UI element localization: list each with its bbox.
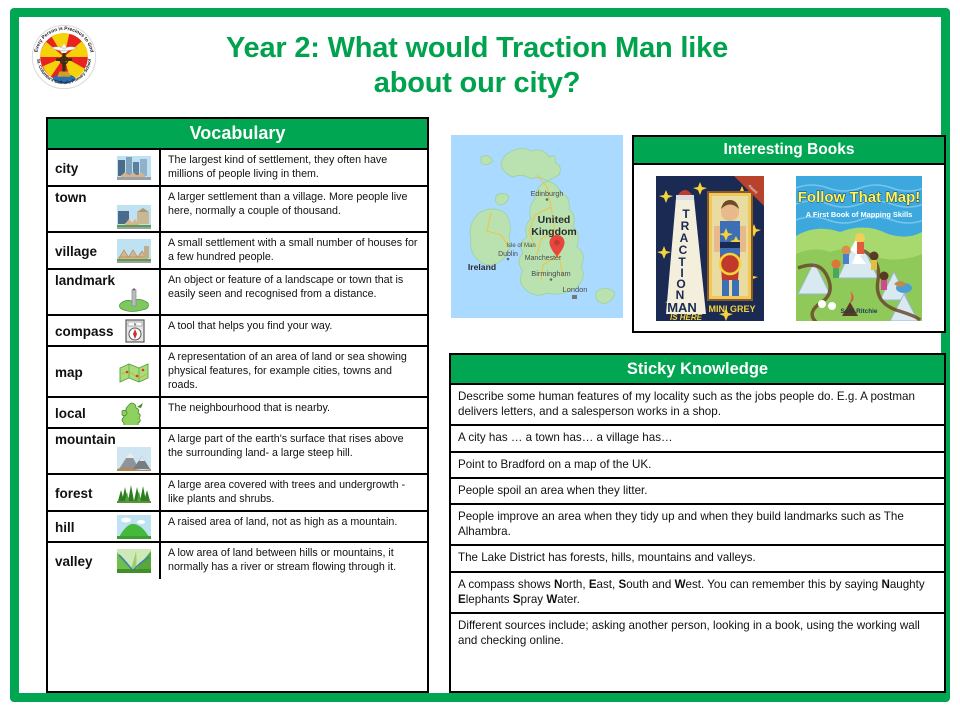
town-buildings-icon [117, 205, 151, 229]
svg-text:London: London [563, 285, 588, 294]
uk-map-image: Edinburgh United Kingdom Isle of Man Dub… [451, 135, 623, 318]
interesting-books-heading: Interesting Books [634, 137, 944, 165]
sticky-knowledge-item: A compass shows North, East, South and W… [451, 571, 944, 612]
svg-text:A First Book of Mapping Skills: A First Book of Mapping Skills [806, 210, 913, 219]
vocabulary-definition: A low area of land between hills or moun… [161, 543, 427, 578]
vocabulary-term-label: village [55, 244, 97, 259]
sticky-knowledge-heading: Sticky Knowledge [451, 355, 944, 385]
vocabulary-definition: A larger settlement than a village. More… [161, 187, 427, 231]
vocabulary-term-label: city [55, 161, 78, 176]
village-houses-icon [117, 239, 151, 263]
sticky-knowledge-rows: Describe some human features of my local… [451, 385, 944, 653]
vocabulary-row: forestA large area covered with trees an… [48, 473, 427, 510]
svg-text:Manchester: Manchester [525, 255, 562, 262]
vocabulary-row: mapA representation of an area of land o… [48, 345, 427, 396]
sticky-knowledge-item: Describe some human features of my local… [451, 385, 944, 424]
sticky-knowledge-item: People spoil an area when they litter. [451, 477, 944, 503]
vocabulary-term-cell: hill [48, 512, 161, 541]
hill-icon [117, 515, 151, 539]
vocabulary-row: hillA raised area of land, not as high a… [48, 510, 427, 541]
vocabulary-definition: A representation of an area of land or s… [161, 347, 427, 396]
vocabulary-definition: A raised area of land, not as high as a … [161, 512, 427, 541]
svg-text:MINI GREY: MINI GREY [708, 304, 755, 314]
poster-frame: Every Person is Precious to God St. Colu… [10, 8, 950, 702]
vocabulary-term-cell: village [48, 233, 161, 268]
vocabulary-row: landmarkAn object or feature of a landsc… [48, 268, 427, 314]
svg-text:N: N [133, 323, 136, 327]
vocabulary-definition: The largest kind of settlement, they oft… [161, 150, 427, 185]
svg-text:Isle of Man: Isle of Man [506, 243, 535, 249]
sticky-knowledge-item: People improve an area when they tidy up… [451, 503, 944, 544]
vocabulary-rows: cityThe largest kind of settlement, they… [48, 150, 427, 579]
uk-outline-icon [117, 401, 151, 425]
poster-header: Every Person is Precious to God St. Colu… [19, 17, 941, 112]
vocabulary-term-cell: forest [48, 475, 161, 510]
vocabulary-heading: Vocabulary [48, 119, 427, 150]
svg-text:Dublin: Dublin [498, 251, 518, 258]
valley-icon [117, 549, 151, 573]
school-crest-icon: Every Person is Precious to God St. Colu… [31, 24, 97, 90]
svg-text:Edinburgh: Edinburgh [531, 189, 564, 198]
vocabulary-definition: An object or feature of a landscape or t… [161, 270, 427, 314]
folded-map-icon [117, 360, 151, 384]
vocabulary-term-cell: valley [48, 543, 161, 578]
svg-text:Birmingham: Birmingham [531, 269, 570, 278]
forest-trees-icon [117, 481, 151, 505]
vocabulary-row: townA larger settlement than a village. … [48, 185, 427, 231]
vocabulary-term-cell: city [48, 150, 161, 185]
svg-text:United: United [538, 214, 571, 226]
sticky-knowledge-item: A city has … a town has… a village has… [451, 424, 944, 450]
vocabulary-term-label: mountain [55, 432, 159, 447]
vocabulary-term-cell: town [48, 187, 161, 231]
vocabulary-definition: A large part of the earth's surface that… [161, 429, 427, 473]
vocabulary-term-label: forest [55, 486, 93, 501]
sticky-knowledge-panel: Sticky Knowledge Describe some human fea… [449, 353, 946, 693]
page-title-line-1: Year 2: What would Traction Man like [127, 31, 827, 66]
vocabulary-term-label: compass [55, 324, 114, 339]
svg-text:Ireland: Ireland [468, 262, 496, 272]
vocabulary-definition: The neighbourhood that is nearby. [161, 398, 427, 427]
page-title-line-2: about our city? [127, 66, 827, 101]
compass-icon: N [118, 319, 152, 343]
vocabulary-row: mountainA large part of the earth's surf… [48, 427, 427, 473]
sticky-knowledge-item: Different sources include; asking anothe… [451, 612, 944, 653]
vocabulary-term-cell: map [48, 347, 161, 396]
vocabulary-row: localThe neighbourhood that is nearby. [48, 396, 427, 427]
vocabulary-term-cell: local [48, 398, 161, 427]
svg-text:Scot Ritchie: Scot Ritchie [841, 308, 878, 315]
vocabulary-term-label: valley [55, 554, 93, 569]
book-cover-follow-that-map: Follow That Map! A First Book of Mapping… [796, 176, 922, 321]
vocabulary-term-label: landmark [55, 273, 159, 288]
vocabulary-definition: A small settlement with a small number o… [161, 233, 427, 268]
mountain-icon [117, 447, 151, 471]
vocabulary-panel: Vocabulary cityThe largest kind of settl… [46, 117, 429, 693]
book-cover-traction-man: Award T R A C T I O N MAN IS HERE MINI G… [656, 176, 764, 321]
vocabulary-definition: A tool that helps you find your way. [161, 316, 427, 345]
vocabulary-term-cell: landmark [48, 270, 161, 314]
sticky-knowledge-item: Point to Bradford on a map of the UK. [451, 451, 944, 477]
vocabulary-term-label: town [55, 190, 159, 205]
vocabulary-term-label: hill [55, 520, 75, 535]
interesting-books-panel: Interesting Books [632, 135, 946, 333]
vocabulary-row: cityThe largest kind of settlement, they… [48, 150, 427, 185]
page-title: Year 2: What would Traction Man like abo… [127, 31, 827, 102]
vocabulary-row: valleyA low area of land between hills o… [48, 541, 427, 578]
vocabulary-row: villageA small settlement with a small n… [48, 231, 427, 268]
monument-icon [117, 288, 151, 312]
vocabulary-row: compassNA tool that helps you find your … [48, 314, 427, 345]
city-skyline-icon [117, 156, 151, 180]
svg-text:IS HERE: IS HERE [670, 313, 703, 321]
vocabulary-definition: A large area covered with trees and unde… [161, 475, 427, 510]
books-list: Award T R A C T I O N MAN IS HERE MINI G… [634, 165, 944, 331]
vocabulary-term-cell: mountain [48, 429, 161, 473]
svg-text:Follow That Map!: Follow That Map! [798, 189, 920, 206]
vocabulary-term-cell: compassN [48, 316, 161, 345]
vocabulary-term-label: local [55, 406, 86, 421]
sticky-knowledge-item: The Lake District has forests, hills, mo… [451, 544, 944, 570]
vocabulary-term-label: map [55, 365, 83, 380]
